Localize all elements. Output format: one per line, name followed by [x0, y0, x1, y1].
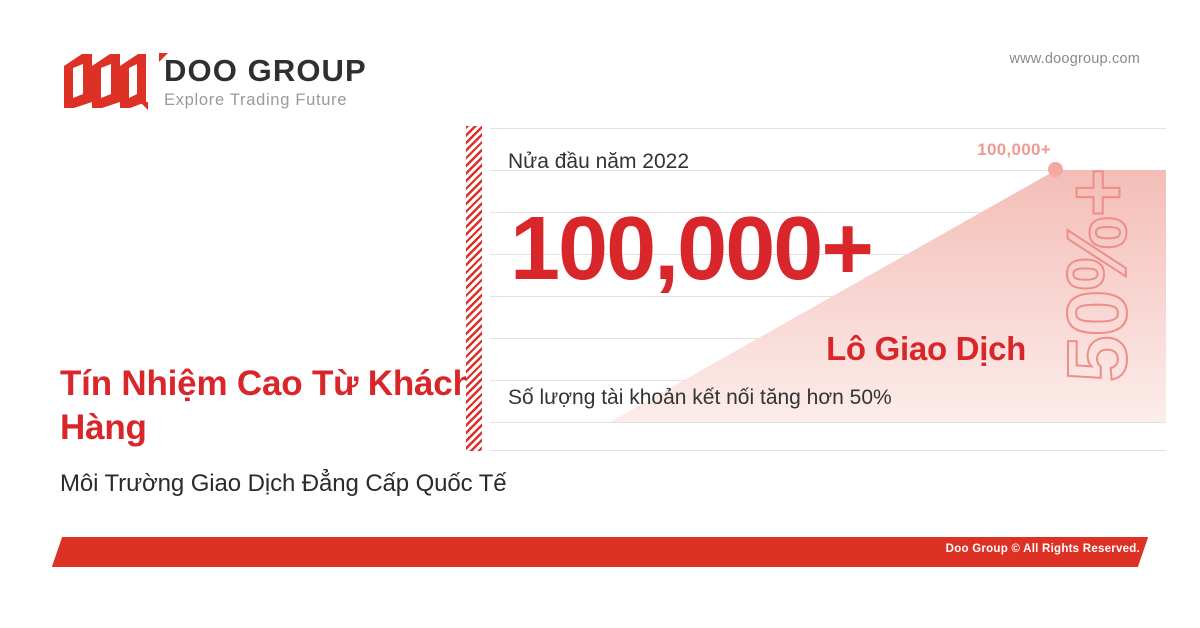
chart-plot-area: 50%+ Nửa đầu năm 2022 100,000+ 100,000+ … — [490, 124, 1166, 454]
chart-period-label: Nửa đầu năm 2022 — [508, 150, 689, 174]
chart-data-point-marker — [1048, 162, 1063, 177]
stat-chart-panel: 50%+ Nửa đầu năm 2022 100,000+ 100,000+ … — [466, 124, 1166, 454]
footer-copyright: Doo Group © All Rights Reserved. — [946, 543, 1140, 555]
stat-unit-label: Lô Giao Dịch — [826, 330, 1026, 368]
stat-headline-value: 100,000+ — [510, 204, 872, 294]
logo-wordmark-text: DOO GROUP — [164, 53, 367, 88]
site-url: www.doogroup.com — [1009, 51, 1140, 67]
stat-caption: Số lượng tài khoản kết nối tăng hơn 50% — [508, 386, 892, 410]
page-subtitle: Môi Trường Giao Dịch Đẳng Cấp Quốc Tế — [60, 470, 620, 498]
logo-tagline: Explore Trading Future — [164, 91, 367, 110]
brand-logo: DOO GROUP Explore Trading Future — [62, 52, 367, 110]
page-title: Tín Nhiệm Cao Từ Khách Hàng — [60, 362, 480, 450]
logo-triangle-icon — [159, 53, 168, 62]
chart-peak-value-label: 100,000+ — [977, 140, 1051, 160]
logo-text-block: DOO GROUP Explore Trading Future — [164, 53, 367, 110]
doo-logo-mark-icon — [62, 52, 148, 110]
logo-wordmark: DOO GROUP — [164, 55, 367, 86]
chart-hatch-decoration — [466, 126, 482, 451]
